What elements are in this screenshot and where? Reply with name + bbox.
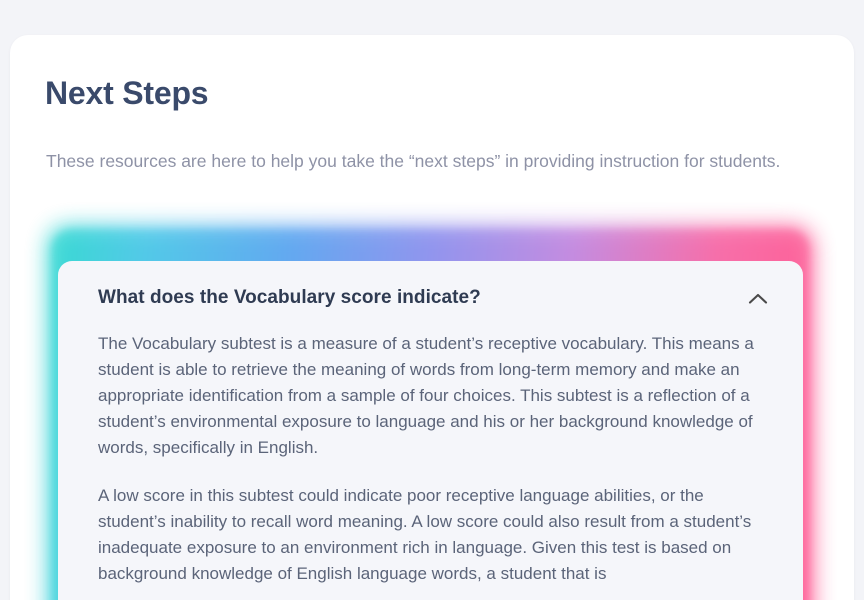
accordion-body: The Vocabulary subtest is a measure of a… xyxy=(58,321,803,587)
page-title: Next Steps xyxy=(45,74,208,112)
page-subtitle: These resources are here to help you tak… xyxy=(46,143,788,180)
accordion-panel: What does the Vocabulary score indicate?… xyxy=(58,261,803,600)
accordion-paragraph-1: The Vocabulary subtest is a measure of a… xyxy=(98,331,763,461)
page-root: Next Steps These resources are here to h… xyxy=(0,0,864,600)
accordion-vocabulary: What does the Vocabulary score indicate?… xyxy=(48,226,813,600)
accordion-question-label: What does the Vocabulary score indicate? xyxy=(98,286,481,311)
next-steps-card: Next Steps These resources are here to h… xyxy=(10,35,854,600)
accordion-header-toggle[interactable]: What does the Vocabulary score indicate? xyxy=(58,261,803,321)
accordion-paragraph-2: A low score in this subtest could indica… xyxy=(98,483,763,587)
chevron-up-icon xyxy=(748,292,768,305)
accordion-toggle-button[interactable] xyxy=(743,283,773,313)
